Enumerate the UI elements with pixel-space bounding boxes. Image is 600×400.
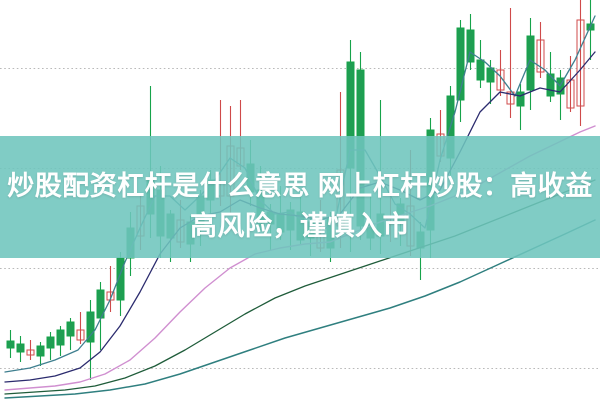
candle-body: [517, 92, 524, 106]
chart-screenshot: 炒股配资杠杆是什么意思 网上杠杆炒股：高收益 高风险，谨慎入市: [0, 0, 600, 400]
candle-body: [57, 330, 64, 345]
candle-body: [17, 344, 24, 352]
caption-line-1: 炒股配资杠杆是什么意思 网上杠杆炒股：高收益: [0, 166, 600, 206]
candle-body: [67, 322, 74, 336]
caption-line-2: 高风险，谨慎入市: [0, 206, 600, 246]
candle-body: [47, 337, 54, 348]
candle-body: [547, 74, 554, 96]
caption-block: 炒股配资杠杆是什么意思 网上杠杆炒股：高收益 高风险，谨慎入市: [0, 166, 600, 246]
candle-body: [347, 62, 354, 168]
candle-body: [477, 60, 484, 80]
candle-body: [37, 346, 44, 356]
candle-body: [7, 341, 14, 348]
